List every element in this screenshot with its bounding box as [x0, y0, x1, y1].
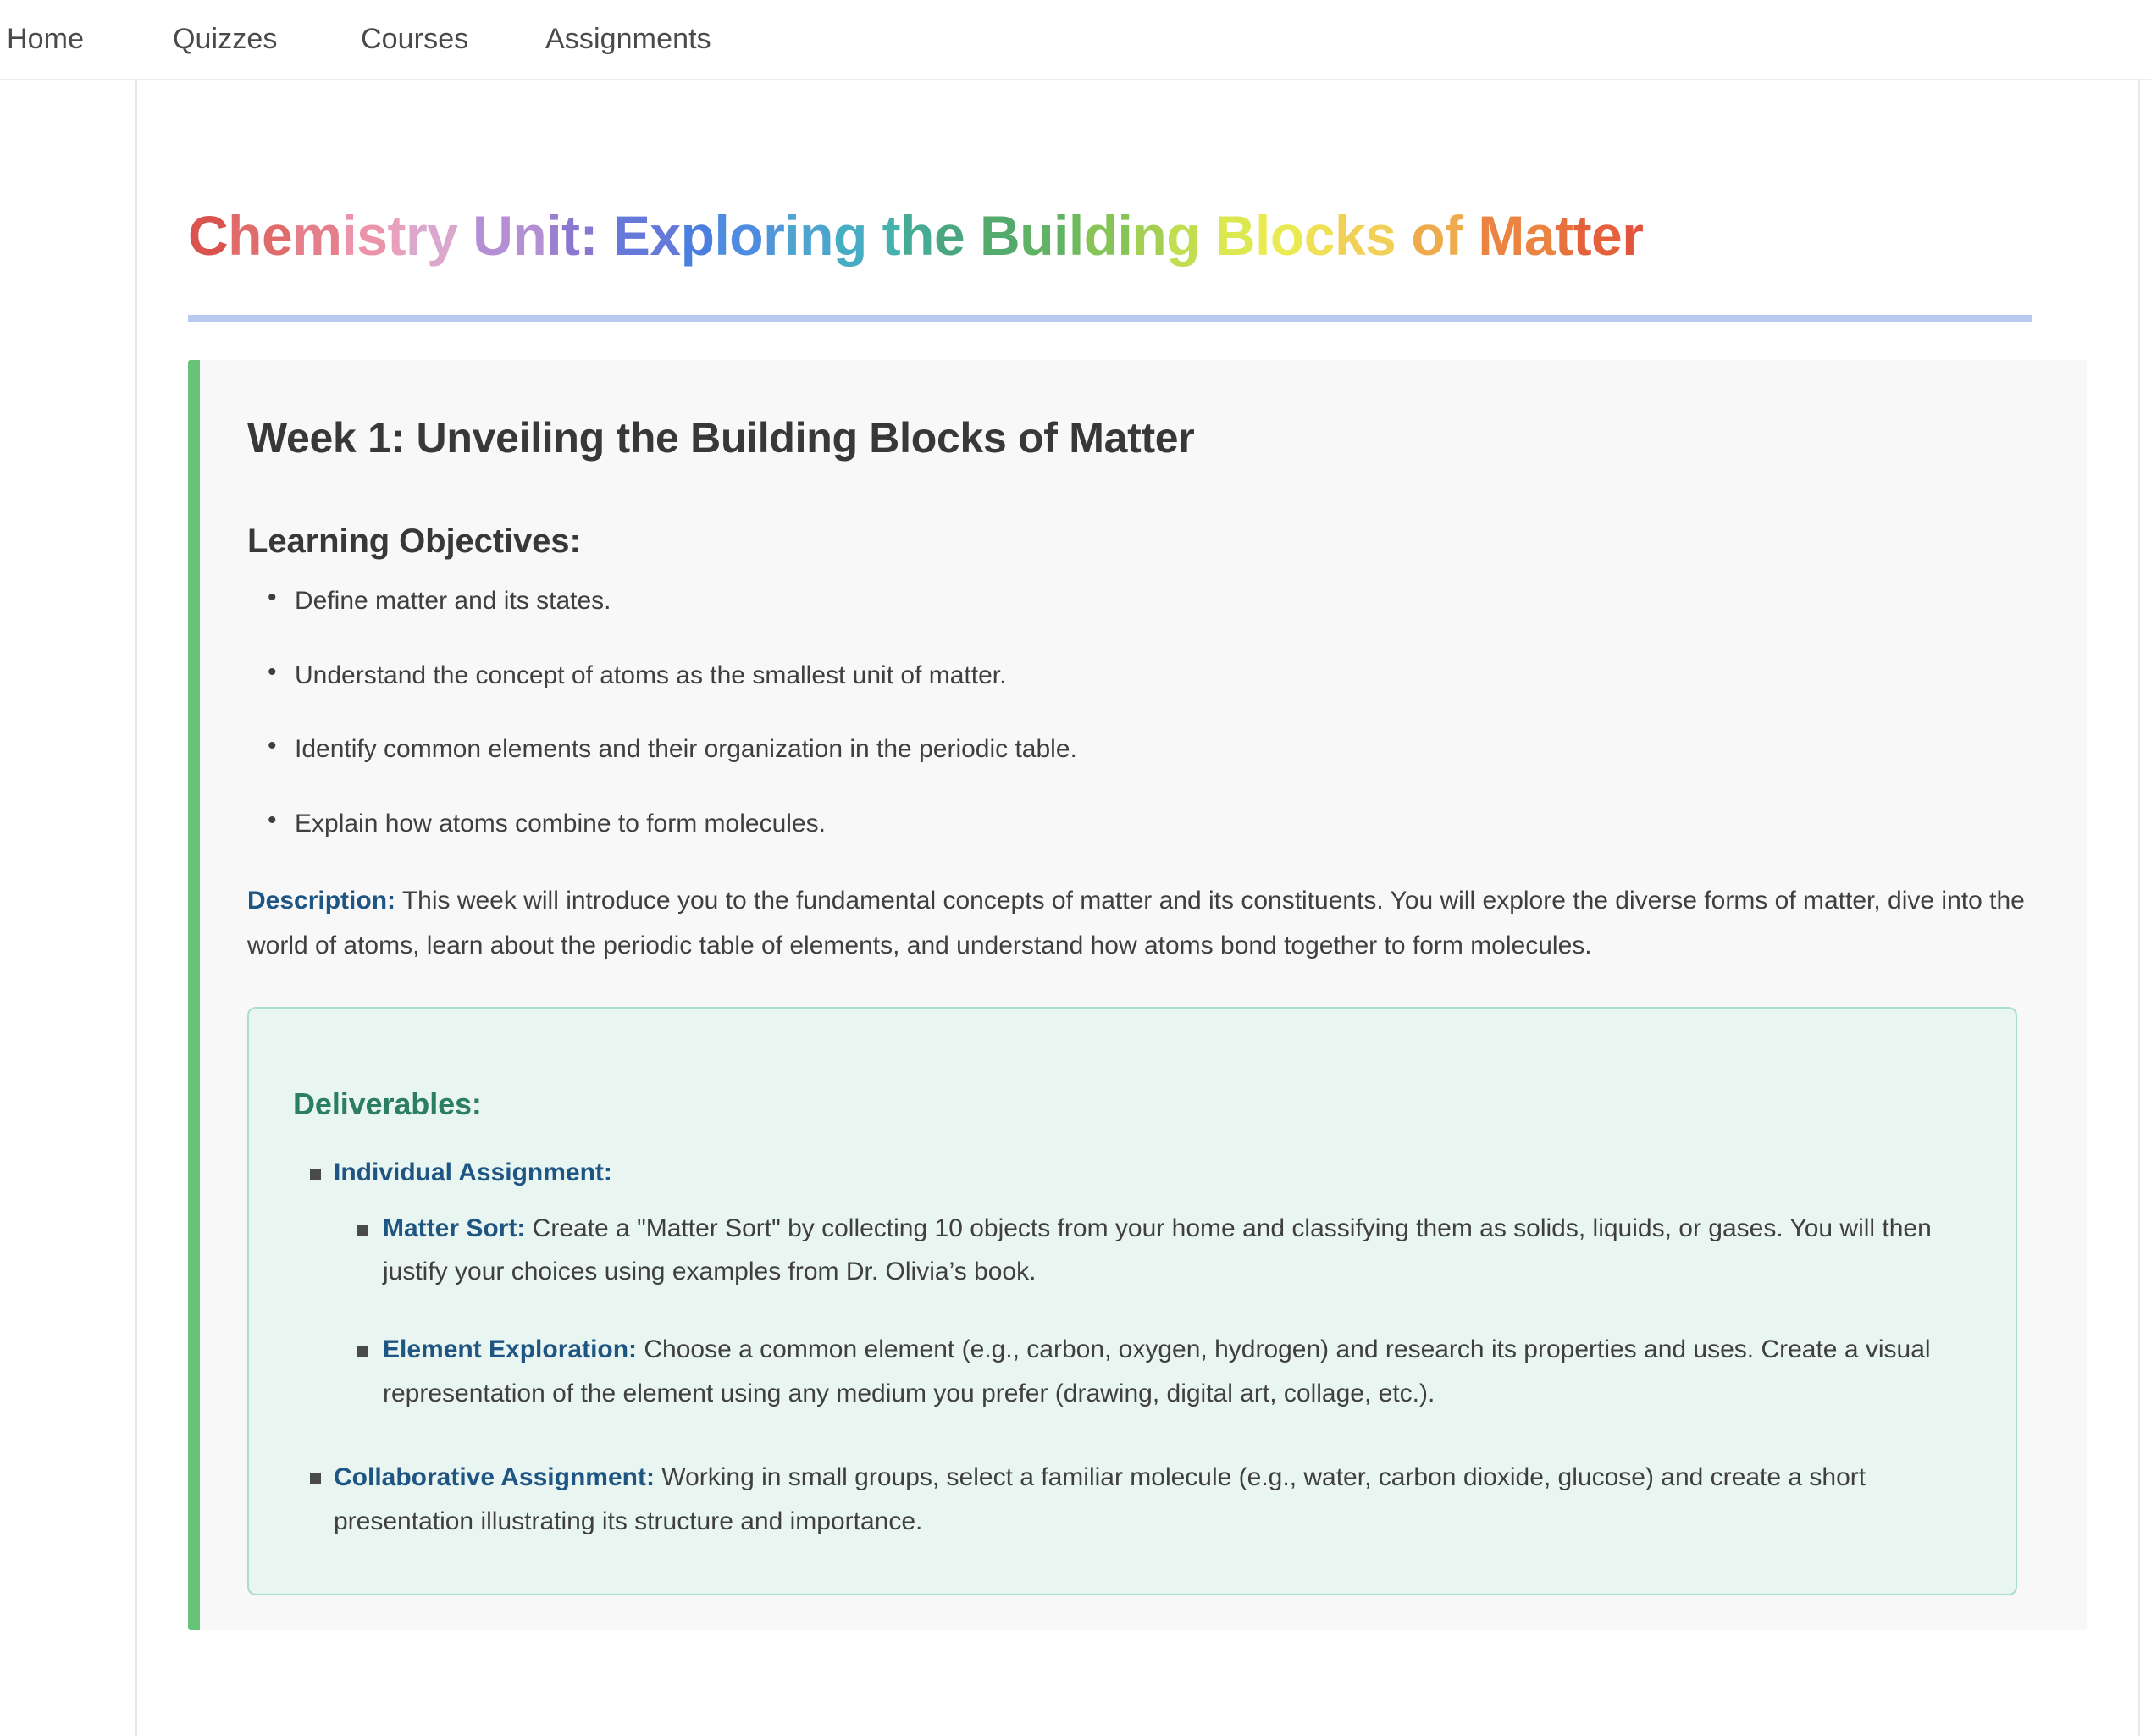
objective-item: Explain how atoms combine to form molecu…	[291, 805, 2040, 843]
title-char	[867, 204, 882, 267]
deliverables-heading: Deliverables:	[293, 1086, 1971, 1122]
left-rail	[0, 80, 137, 1736]
page-title: Chemistry Unit: Exploring the Building B…	[188, 80, 2087, 266]
deliverables-list: Individual Assignment:Matter Sort: Creat…	[293, 1151, 1971, 1543]
title-char: e	[934, 204, 965, 267]
title-char: i	[1118, 204, 1133, 267]
title-char: r	[1622, 204, 1643, 267]
title-char: c	[1304, 204, 1335, 267]
title-char	[1200, 204, 1215, 267]
deliverable-subtext: Create a "Matter Sort" by collecting 10 …	[383, 1214, 1932, 1286]
title-char: i	[546, 204, 561, 267]
title-char: i	[1053, 204, 1069, 267]
title-char: h	[900, 204, 934, 267]
nav-item-home[interactable]: Home	[7, 23, 84, 56]
title-char: s	[1365, 204, 1396, 267]
week-card: Week 1: Unveiling the Building Blocks of…	[188, 360, 2087, 1630]
title-divider	[188, 315, 2032, 322]
title-char: t	[1573, 204, 1591, 267]
objective-item: Identify common elements and their organ…	[291, 731, 2040, 768]
title-char: l	[1069, 204, 1084, 267]
deliverable-sublabel: Matter Sort:	[383, 1214, 525, 1242]
deliverable-item: Individual Assignment:Matter Sort: Creat…	[334, 1151, 1971, 1415]
title-char: h	[228, 204, 262, 267]
deliverables-box: Deliverables: Individual Assignment:Matt…	[247, 1007, 2017, 1595]
nav-slot-home: Home	[7, 23, 173, 56]
objective-item: Understand the concept of atoms as the s…	[291, 657, 2040, 694]
nav-slot-quizzes: Quizzes	[173, 23, 361, 56]
title-char: n	[512, 204, 546, 267]
nav-slot-courses: Courses	[361, 23, 545, 56]
title-char: d	[1084, 204, 1118, 267]
title-char: u	[1020, 204, 1053, 267]
title-char: o	[729, 204, 763, 267]
title-char: p	[681, 204, 715, 267]
title-char: o	[1411, 204, 1445, 267]
top-navigation-bar: Home Quizzes Courses Assignments	[0, 0, 2151, 80]
title-char: e	[262, 204, 292, 267]
learning-objectives-heading: Learning Objectives:	[247, 522, 2040, 561]
nav-item-assignments[interactable]: Assignments	[545, 23, 711, 56]
learning-objectives-list: Define matter and its states.Understand …	[247, 583, 2040, 842]
title-char: t	[1555, 204, 1573, 267]
title-char: y	[427, 204, 457, 267]
right-rail	[2138, 80, 2151, 1736]
description-paragraph: Description: This week will introduce yo…	[247, 879, 2026, 968]
title-char	[965, 204, 980, 267]
main-content: Chemistry Unit: Exploring the Building B…	[137, 80, 2138, 1736]
title-char: t	[882, 204, 900, 267]
title-char: i	[784, 204, 799, 267]
description-text: This week will introduce you to the fund…	[247, 887, 2025, 959]
page-frame: Chemistry Unit: Exploring the Building B…	[0, 80, 2151, 1736]
week-title: Week 1: Unveiling the Building Blocks of…	[247, 412, 2040, 463]
title-char: k	[1335, 204, 1365, 267]
title-char: i	[341, 204, 357, 267]
title-char	[1463, 204, 1479, 267]
title-char: t	[561, 204, 579, 267]
nav-slot-assignments: Assignments	[545, 23, 730, 56]
deliverable-item: Collaborative Assignment: Working in sma…	[334, 1456, 1971, 1543]
title-char: n	[1132, 204, 1166, 267]
title-char: a	[1524, 204, 1555, 267]
title-char	[598, 204, 613, 267]
deliverable-subitem: Element Exploration: Choose a common ele…	[383, 1328, 1971, 1415]
title-char: C	[188, 204, 228, 267]
title-char: e	[1591, 204, 1622, 267]
title-char: l	[714, 204, 729, 267]
deliverable-label: Collaborative Assignment:	[334, 1463, 655, 1491]
title-char	[457, 204, 473, 267]
title-char: r	[763, 204, 784, 267]
title-char: g	[833, 204, 867, 267]
title-char: M	[1478, 204, 1523, 267]
title-char: s	[357, 204, 387, 267]
title-char: :	[580, 204, 598, 267]
title-char: B	[1215, 204, 1255, 267]
deliverable-sublabel: Element Exploration:	[383, 1335, 637, 1363]
title-char: g	[1166, 204, 1200, 267]
nav-item-courses[interactable]: Courses	[361, 23, 468, 56]
title-char: x	[650, 204, 680, 267]
title-char: U	[473, 204, 512, 267]
deliverable-label: Individual Assignment:	[334, 1158, 612, 1186]
nav-item-quizzes[interactable]: Quizzes	[173, 23, 278, 56]
title-char: o	[1270, 204, 1304, 267]
deliverable-subitem: Matter Sort: Create a "Matter Sort" by c…	[383, 1207, 1971, 1294]
title-char: r	[406, 204, 427, 267]
title-char: t	[387, 204, 405, 267]
deliverable-sublist: Matter Sort: Create a "Matter Sort" by c…	[334, 1207, 1971, 1415]
title-char: l	[1255, 204, 1270, 267]
title-char: m	[292, 204, 341, 267]
title-char: f	[1445, 204, 1463, 267]
title-char: B	[980, 204, 1020, 267]
objective-item: Define matter and its states.	[291, 583, 2040, 620]
title-char	[1396, 204, 1411, 267]
description-label: Description:	[247, 887, 395, 915]
title-char: E	[613, 204, 650, 267]
title-char: n	[799, 204, 833, 267]
